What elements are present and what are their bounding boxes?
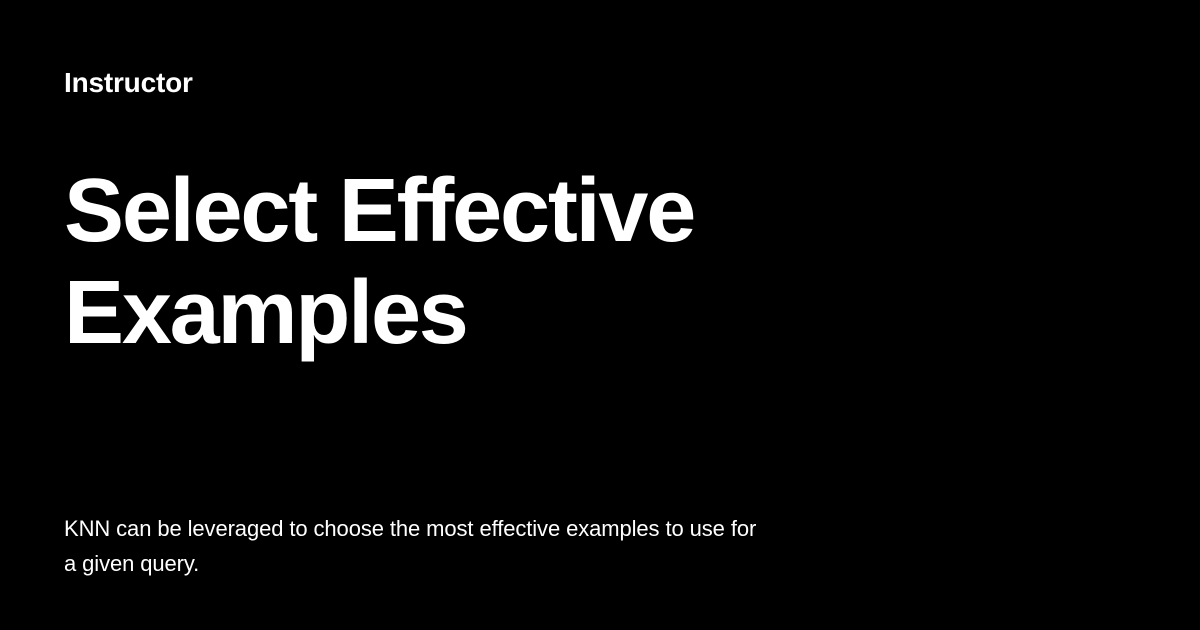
page-description-line-1: KNN can be leveraged to choose the most … <box>64 511 854 546</box>
page-title-line-1: Select Effective <box>64 160 844 262</box>
page-description: KNN can be leveraged to choose the most … <box>64 511 854 581</box>
card-content: Instructor Select Effective Examples KNN… <box>64 0 1136 630</box>
social-card: Instructor Select Effective Examples KNN… <box>0 0 1200 630</box>
page-description-line-2: a given query. <box>64 546 854 581</box>
page-title: Select Effective Examples <box>64 160 844 364</box>
page-title-line-2: Examples <box>64 262 844 364</box>
brand-label: Instructor <box>64 66 193 100</box>
